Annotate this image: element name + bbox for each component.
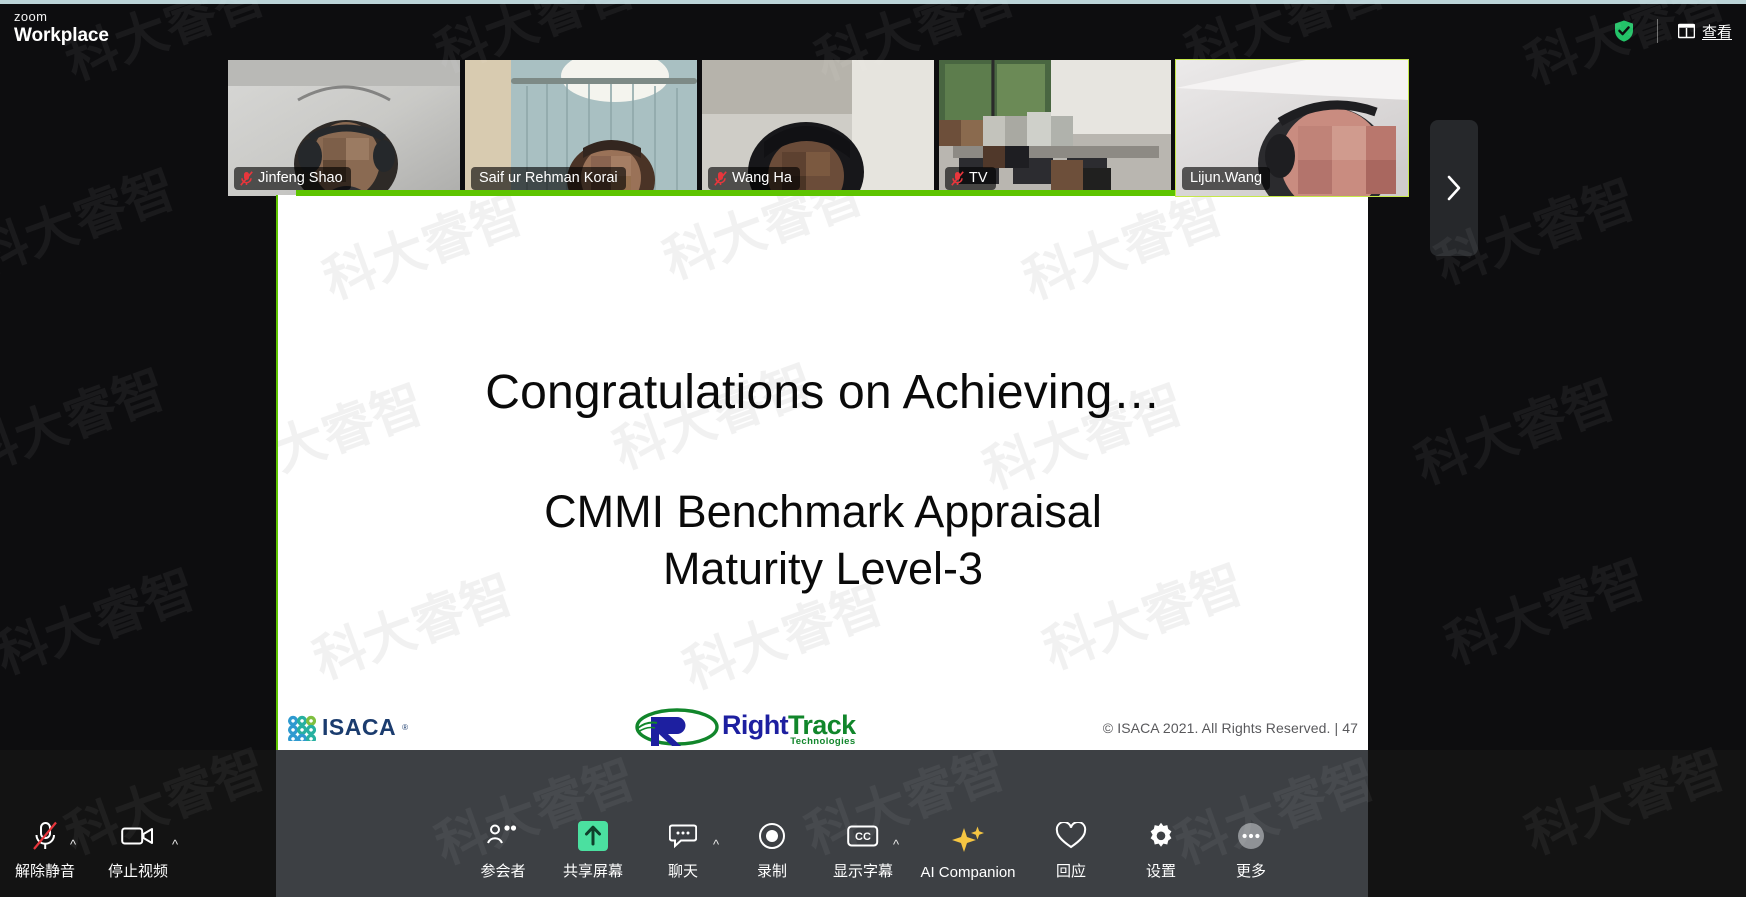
slide-footer: ISACA ® RightTrack Technologies ©	[278, 704, 1368, 746]
brand-zoom: zoom	[14, 10, 109, 23]
show-captions-label: 显示字幕	[833, 860, 893, 881]
filmstrip-next-button[interactable]	[1430, 120, 1478, 256]
toolbar-divider	[1657, 19, 1658, 43]
zoom-workplace-logo: zoom Workplace	[14, 10, 109, 45]
ai-companion-label: AI Companion	[920, 864, 1015, 881]
participant-name-badge: Wang Ha	[708, 167, 800, 190]
meeting-toolbar: 解除静音 ^ 停止视频 ^ 参会者	[0, 750, 1746, 897]
view-layout-button[interactable]: 查看	[1674, 19, 1736, 44]
participant-filmstrip: Jinfeng Shao	[228, 60, 1478, 196]
settings-button[interactable]: 设置	[1116, 816, 1206, 881]
righttrack-mark-icon	[634, 706, 720, 746]
heart-reaction-icon	[1055, 816, 1087, 856]
righttrack-wordmark: RightTrack Technologies	[722, 712, 856, 747]
isaca-wordmark: ISACA	[322, 714, 396, 741]
microphone-muted-icon	[32, 816, 58, 856]
watermark: 科大睿智	[1403, 357, 1624, 499]
microphone-muted-icon	[714, 171, 727, 186]
watermark: 科大睿智	[0, 347, 175, 489]
slide-title: CMMI Benchmark Appraisal Maturity Level-…	[278, 483, 1368, 597]
slide-title-line2: Maturity Level-3	[278, 540, 1368, 597]
participant-name: Jinfeng Shao	[258, 169, 343, 187]
record-icon	[758, 816, 786, 856]
brand-workplace: Workplace	[14, 26, 109, 45]
svg-text:CC: CC	[855, 831, 871, 843]
watermark: 科大睿智	[1011, 195, 1232, 313]
participants-button[interactable]: 参会者	[458, 816, 548, 881]
watermark: 科大睿智	[0, 547, 205, 689]
unmute-button[interactable]: 解除静音	[0, 816, 90, 881]
participant-tile[interactable]: Wang Ha	[702, 60, 934, 196]
participants-icon	[486, 816, 520, 856]
ai-sparkle-icon	[951, 820, 985, 860]
reactions-label: 回应	[1056, 860, 1086, 881]
captions-options-caret-icon[interactable]: ^	[893, 838, 899, 851]
record-label: 录制	[757, 860, 787, 881]
title-bar-right-controls: 查看	[1607, 14, 1736, 48]
more-button[interactable]: 更多	[1206, 816, 1296, 881]
share-screen-label: 共享屏幕	[563, 860, 623, 881]
watermark: 科大睿智	[0, 147, 185, 289]
video-options-caret-icon[interactable]: ^	[172, 838, 178, 851]
gear-icon	[1147, 816, 1175, 856]
chat-label: 聊天	[668, 860, 698, 881]
watermark: 科大睿智	[311, 195, 532, 313]
participant-name: Wang Ha	[732, 169, 792, 187]
share-screen-icon	[578, 816, 608, 856]
unmute-label: 解除静音	[15, 860, 75, 881]
slide-copyright: © ISACA 2021. All Rights Reserved. | 47	[1103, 720, 1358, 736]
participants-label: 参会者	[480, 860, 525, 881]
slide-title-line1: CMMI Benchmark Appraisal	[278, 483, 1368, 540]
shared-slide: Congratulations on Achieving… CMMI Bench…	[278, 195, 1368, 752]
righttrack-word-track: Track	[788, 710, 856, 740]
audio-options-caret-icon[interactable]: ^	[70, 838, 76, 851]
stop-video-label: 停止视频	[108, 860, 168, 881]
record-button[interactable]: 录制	[727, 816, 817, 881]
isaca-mark-icon	[286, 713, 316, 741]
participant-name-badge: TV	[945, 167, 996, 190]
isaca-logo: ISACA ®	[286, 713, 408, 741]
watermark: 科大睿智	[1433, 537, 1654, 679]
stop-video-button[interactable]: 停止视频	[93, 816, 183, 881]
participant-name: Lijun.Wang	[1190, 169, 1262, 187]
participant-name-badge: Saif ur Rehman Korai	[471, 167, 626, 190]
participant-tile[interactable]: TV	[939, 60, 1171, 196]
slide-headline: Congratulations on Achieving…	[278, 365, 1368, 420]
title-bar: zoom Workplace 查看	[0, 4, 1746, 57]
watermark: 科大睿智	[651, 195, 872, 293]
righttrack-logo: RightTrack Technologies	[634, 706, 856, 746]
settings-label: 设置	[1146, 860, 1176, 881]
more-label: 更多	[1236, 860, 1266, 881]
righttrack-word-right: Right	[722, 710, 788, 740]
participant-name: Saif ur Rehman Korai	[479, 169, 618, 187]
closed-caption-icon: CC	[847, 816, 879, 856]
reactions-button[interactable]: 回应	[1026, 816, 1116, 881]
layout-grid-icon	[1678, 23, 1695, 39]
view-button-label: 查看	[1702, 21, 1732, 42]
chat-options-caret-icon[interactable]: ^	[713, 838, 719, 851]
participant-name-badge: Lijun.Wang	[1182, 167, 1270, 190]
participant-name: TV	[969, 169, 988, 187]
participant-tile-active-speaker[interactable]: Lijun.Wang	[1176, 60, 1408, 196]
participant-name-badge: Jinfeng Shao	[234, 167, 351, 190]
share-screen-button[interactable]: 共享屏幕	[548, 816, 638, 881]
isaca-trademark: ®	[402, 723, 408, 732]
microphone-muted-icon	[951, 171, 964, 186]
ai-companion-button[interactable]: AI Companion	[912, 820, 1024, 881]
chevron-right-icon	[1446, 175, 1462, 201]
ellipsis-icon	[1235, 816, 1267, 856]
video-camera-icon	[121, 816, 155, 856]
microphone-muted-icon	[240, 171, 253, 186]
zoom-meeting-window: zoom Workplace 查看	[0, 0, 1746, 897]
participant-tile[interactable]: Jinfeng Shao	[228, 60, 460, 196]
encryption-shield-icon[interactable]	[1607, 14, 1641, 48]
chat-bubble-icon	[669, 816, 697, 856]
participant-tile[interactable]: Saif ur Rehman Korai	[465, 60, 697, 196]
